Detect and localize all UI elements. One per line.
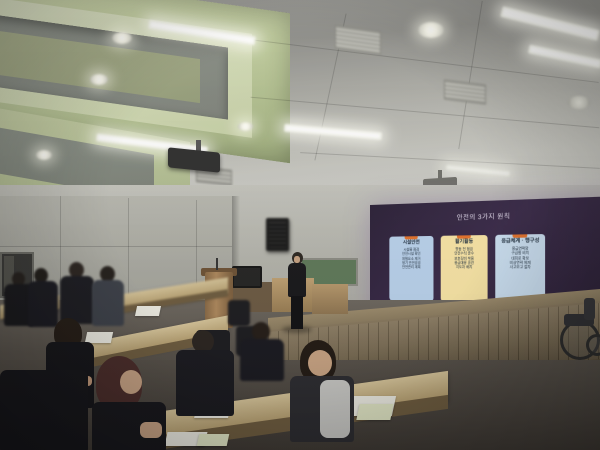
person-torso <box>176 350 234 416</box>
presenter-face <box>294 256 300 263</box>
downlight <box>90 74 108 85</box>
audience-person <box>176 330 234 416</box>
slide-card-3-body: 응급연락망 구급함 비치 대피로 확보 비상연락 체계 사고보고 절차 <box>510 246 531 269</box>
slide-card-3-badge: 03 <box>513 234 528 238</box>
wall-seam <box>0 246 232 247</box>
person-head <box>120 370 142 394</box>
slide-card-2-body: 활동 전 점검 안전수칙 준수 보호장비 착용 응급대응 훈련 지도자 배치 <box>454 247 474 270</box>
slide-title: 안전의 3가지 원칙 <box>427 210 543 223</box>
person-light-top <box>320 380 350 438</box>
person-torso <box>92 280 124 326</box>
paper-sheet <box>356 404 393 420</box>
downlight <box>112 32 132 44</box>
standing-presenter <box>286 252 308 330</box>
wheelchair-backrest <box>584 298 595 320</box>
slide-card-1-title: 시설안전 <box>391 239 432 246</box>
slide-card-1: 01 시설안전 시설물 점검 안전시설 확인 위험요소 제거 정기 안전검검 안… <box>389 236 434 302</box>
presenter-legs <box>291 296 303 329</box>
audience-person <box>92 266 124 324</box>
downlight <box>568 96 590 109</box>
wall-speaker <box>266 218 289 251</box>
downlight <box>238 122 253 131</box>
audience-person <box>60 262 94 322</box>
wheelchair <box>560 300 600 362</box>
slide-card-1-badge: 01 <box>405 236 418 240</box>
paper-sheet <box>135 306 161 316</box>
person-torso <box>240 339 284 381</box>
slide-card-2-badge: 02 <box>457 235 471 239</box>
presenter-torso <box>288 263 306 297</box>
slide-card-1-body: 시설물 점검 안전시설 확인 위험요소 제거 정기 안전검검 안전관리 계획 <box>402 247 421 269</box>
person-torso <box>60 276 94 324</box>
audience-person <box>92 356 166 450</box>
downlight <box>36 150 52 160</box>
downlight <box>418 22 444 38</box>
audience-person <box>28 268 58 324</box>
paper-sheet <box>197 434 230 446</box>
person-hands <box>140 422 162 438</box>
photograph-classroom-lecture: 안전의 3가지 원칙 01 시설안전 시설물 점검 안전시설 확인 위험요소 제… <box>0 0 600 450</box>
person-torso <box>0 370 88 450</box>
audience-person <box>286 340 358 450</box>
slide-card-3: 03 응급체계 · 행구성 응급연락망 구급함 비치 대피로 확보 비상연락 체… <box>495 234 545 304</box>
audience-person <box>0 360 88 450</box>
slide-card-2-title: 활기활동 <box>443 238 486 245</box>
person-head <box>308 350 332 376</box>
microphone <box>216 258 218 270</box>
slide-card-2: 02 활기활동 활동 전 점검 안전수칙 준수 보호장비 착용 응급대응 훈련 … <box>441 235 488 303</box>
wooden-cabinet <box>312 284 348 314</box>
slide-card-3-title: 응급체계 · 행구성 <box>498 237 544 244</box>
audience-person <box>240 322 284 378</box>
